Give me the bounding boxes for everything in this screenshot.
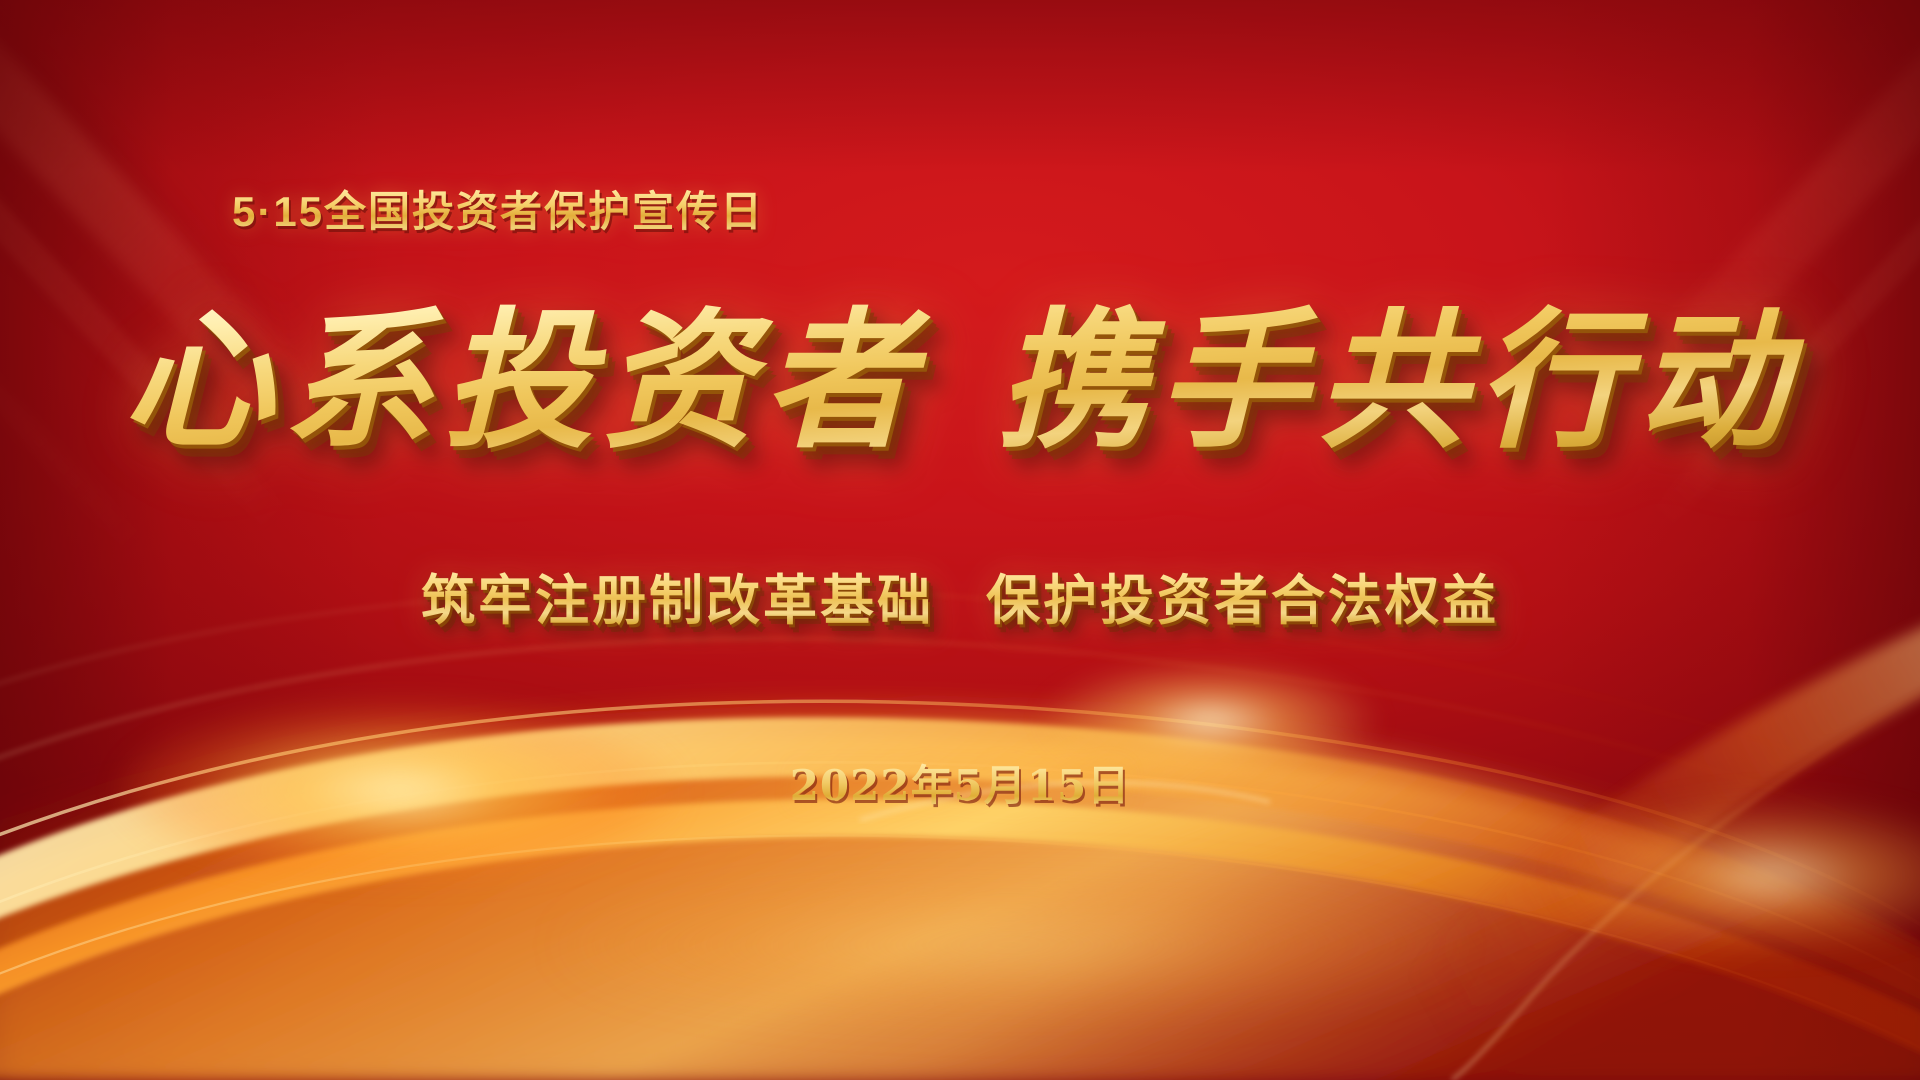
- subtitle-part-1: 筑牢注册制改革基础: [421, 571, 934, 631]
- poster-text-content: 5·15全国投资者保护宣传日 心系投资者携手共行动 筑牢注册制改革基础保护投资者…: [0, 0, 1920, 1080]
- headline-part-2: 携手共行动: [997, 293, 1797, 469]
- subtitle-part-2: 保护投资者合法权益: [986, 571, 1499, 631]
- poster-canvas: 5·15全国投资者保护宣传日 心系投资者携手共行动 筑牢注册制改革基础保护投资者…: [0, 0, 1920, 1080]
- headline-part-1: 心系投资者: [123, 293, 923, 469]
- campaign-eyebrow-text: 5·15全国投资者保护宣传日: [232, 178, 764, 239]
- main-headline: 心系投资者携手共行动: [0, 300, 1920, 462]
- subtitle-line: 筑牢注册制改革基础保护投资者合法权益: [0, 556, 1920, 635]
- event-date: 2022年5月15日: [0, 752, 1920, 813]
